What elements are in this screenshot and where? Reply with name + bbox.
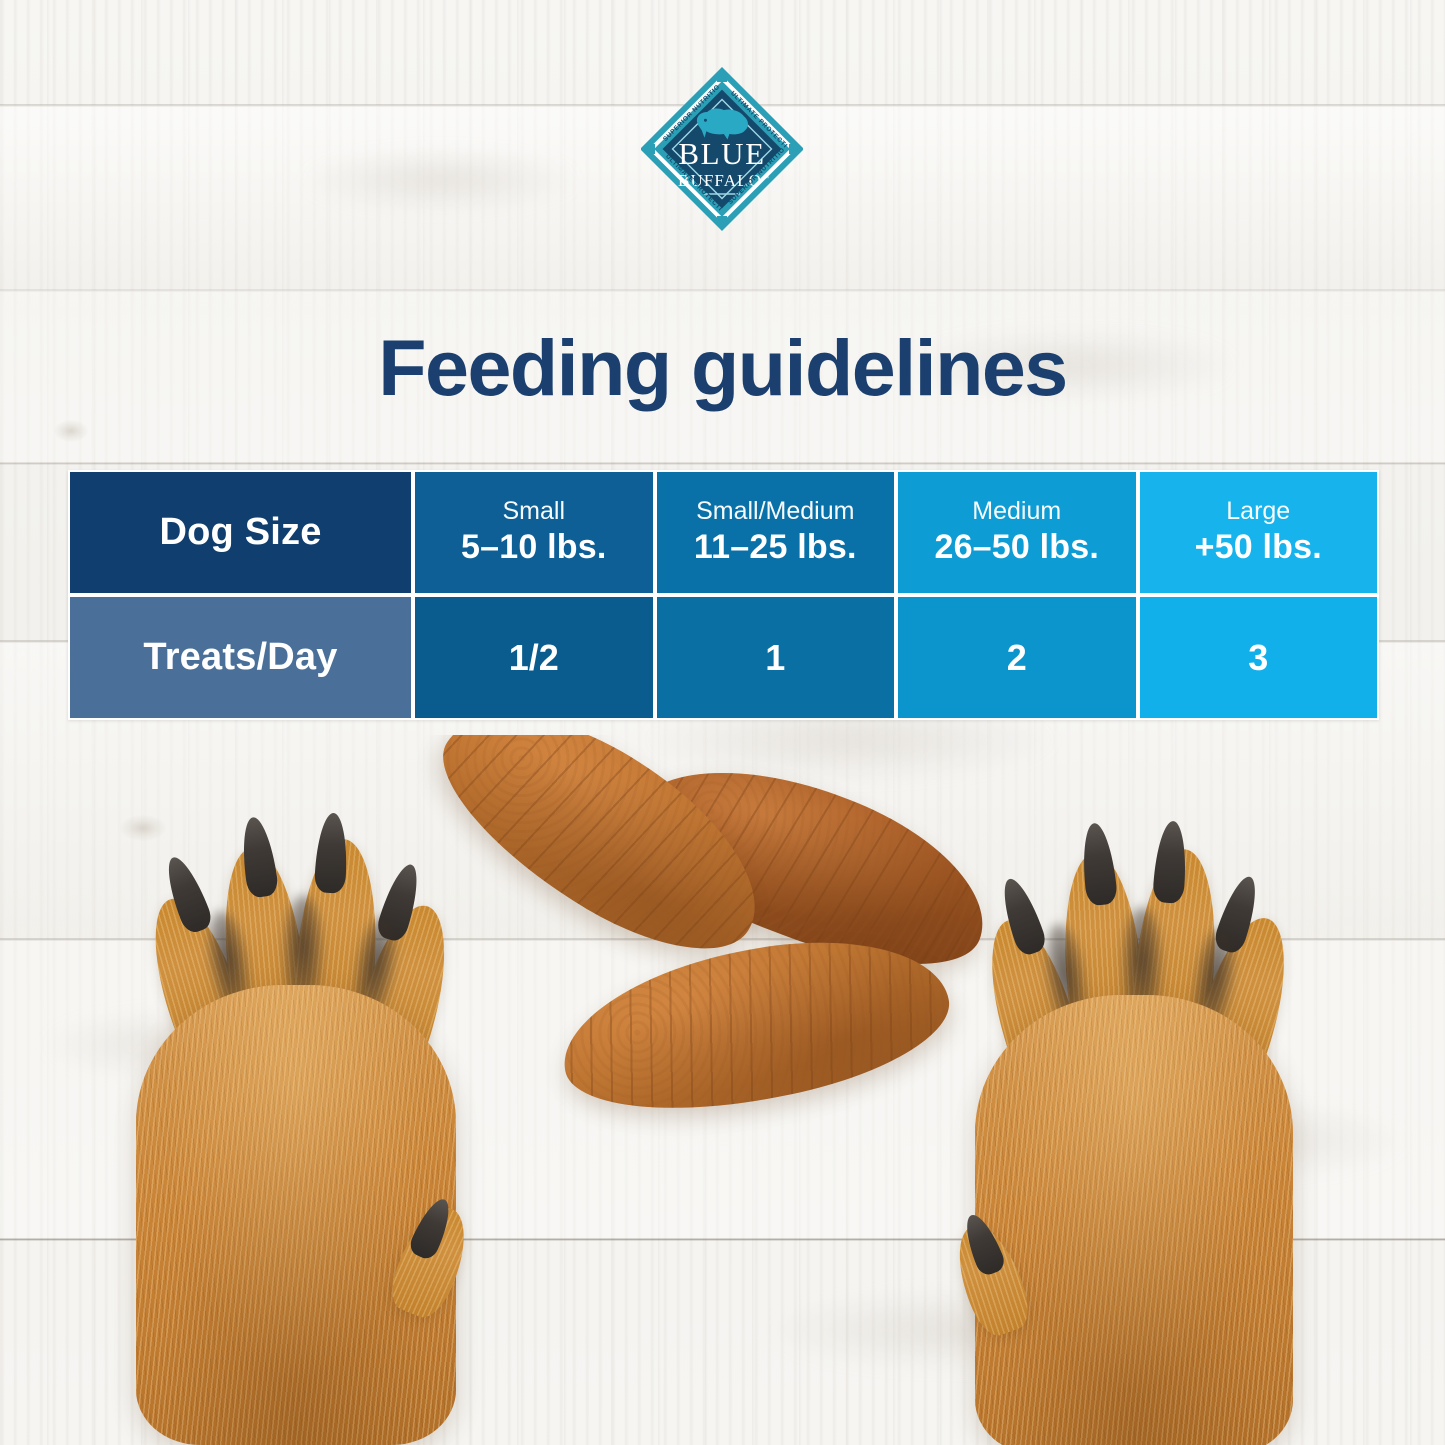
- size-name-small: Small: [502, 498, 565, 524]
- treats-cell-large: 3: [1140, 597, 1378, 718]
- wood-knot: [54, 420, 88, 442]
- treats-cell-small: 1/2: [415, 597, 653, 718]
- plank-seam: [0, 462, 1445, 465]
- treats-cell-medium: 2: [898, 597, 1136, 718]
- logo-blue-text: BLUE: [678, 136, 765, 171]
- paw-pad: [136, 985, 456, 1445]
- size-weight-medium: 26–50 lbs.: [934, 528, 1099, 567]
- feeding-guidelines-table: Dog Size Small 5–10 lbs. Small/Medium 11…: [68, 470, 1379, 720]
- size-name-medium: Medium: [972, 498, 1061, 524]
- blue-buffalo-logo: BLUE BUFFALO ™ SUPERIOR NUTRITION ULTIMA…: [641, 66, 803, 232]
- size-weight-small: 5–10 lbs.: [461, 528, 606, 567]
- dog-left-paw: [130, 825, 490, 1445]
- size-name-large: Large: [1226, 498, 1290, 524]
- row-header-treats-per-day-label: Treats/Day: [143, 636, 337, 679]
- row-header-treats-per-day: Treats/Day: [70, 597, 411, 718]
- size-weight-large: +50 lbs.: [1195, 528, 1322, 567]
- page-title: Feeding guidelines: [0, 322, 1445, 414]
- treats-value-small-medium: 1: [765, 637, 785, 679]
- plank-seam: [0, 289, 1445, 292]
- header-cell-small: Small 5–10 lbs.: [415, 472, 653, 593]
- paw-pad: [975, 995, 1293, 1445]
- header-cell-large: Large +50 lbs.: [1140, 472, 1378, 593]
- jerky-treat-bottom: [549, 914, 960, 1136]
- treats-cell-small-medium: 1: [657, 597, 895, 718]
- table-header-row: Dog Size Small 5–10 lbs. Small/Medium 11…: [70, 472, 1377, 593]
- row-header-dog-size-label: Dog Size: [159, 511, 321, 554]
- row-header-dog-size: Dog Size: [70, 472, 411, 593]
- paw-claw: [314, 812, 349, 894]
- header-cell-medium: Medium 26–50 lbs.: [898, 472, 1136, 593]
- product-photo: [0, 735, 1445, 1445]
- table-data-row: Treats/Day 1/2 1 2 3: [70, 597, 1377, 718]
- treats-value-small: 1/2: [509, 637, 559, 679]
- treats-value-large: 3: [1248, 637, 1268, 679]
- header-cell-small-medium: Small/Medium 11–25 lbs.: [657, 472, 895, 593]
- paw-claw: [1152, 820, 1189, 904]
- logo-trademark: ™: [763, 175, 769, 182]
- wood-grain: [300, 150, 580, 210]
- dog-right-paw: [955, 835, 1315, 1445]
- size-weight-small-medium: 11–25 lbs.: [694, 528, 857, 567]
- treats-value-medium: 2: [1007, 637, 1027, 679]
- size-name-small-medium: Small/Medium: [696, 498, 854, 524]
